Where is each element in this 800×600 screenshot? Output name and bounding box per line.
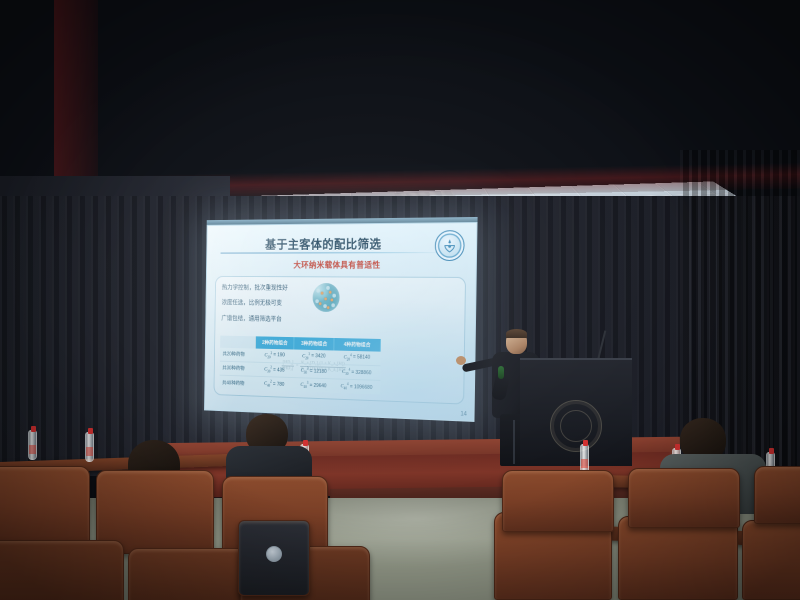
title-underline bbox=[221, 252, 446, 254]
slide-content-panel: 热力学控制，批次重现性好 浓度任选，比例无极可变 广谱包结，通用筛选平台 bbox=[214, 276, 467, 405]
table-body: 共20种药物 C202 = 190 C203 = 3420 C204 = 581… bbox=[220, 347, 381, 394]
table-header-blank bbox=[220, 336, 255, 349]
water-bottle bbox=[85, 432, 94, 462]
table-cell: C303 = 12180 bbox=[294, 363, 334, 379]
university-emblem-icon bbox=[435, 230, 465, 261]
slide: 基于主客体的配比筛选 大环纳米载体具有普适性 热力学控制，批次重现性好 bbox=[205, 223, 477, 421]
lectern-emblem-icon bbox=[550, 400, 602, 452]
presenter-hair bbox=[506, 329, 527, 338]
slide-subtitle: 大环纳米载体具有普适性 bbox=[212, 259, 470, 271]
water-bottle bbox=[28, 430, 37, 460]
screen-surface: 基于主客体的配比筛选 大环纳米载体具有普适性 热力学控制，批次重现性好 bbox=[204, 222, 477, 422]
table-cell: C304 = 328860 bbox=[333, 364, 380, 380]
slide-title: 基于主客体的配比筛选 bbox=[227, 233, 422, 252]
seat bbox=[754, 466, 800, 524]
row-label: 共40种药物 bbox=[220, 375, 255, 390]
table-cell: C204 = 58140 bbox=[334, 350, 381, 365]
table-cell: C203 = 3420 bbox=[294, 349, 334, 364]
table-header-cell: 3种药物组合 bbox=[294, 337, 334, 350]
projection-screen: 基于主客体的配比筛选 大环纳米载体具有普适性 热力学控制，批次重现性好 bbox=[204, 222, 477, 422]
seat bbox=[502, 470, 614, 532]
lecture-hall-photo: 基于主客体的配比筛选 大环纳米载体具有普适性 热力学控制，批次重现性好 bbox=[0, 0, 800, 600]
handheld-microphone-icon bbox=[498, 366, 504, 379]
table-cell: C403 = 29640 bbox=[294, 378, 334, 393]
slide-page-number: 14 bbox=[460, 411, 467, 417]
seat bbox=[0, 466, 90, 550]
bullet-item: 浓度任选，比例无极可变 bbox=[222, 301, 319, 308]
table-cell: C302 = 435 bbox=[255, 362, 294, 378]
table-cell: C402 = 780 bbox=[255, 376, 294, 391]
table-cell: C404 = 1096680 bbox=[333, 379, 380, 395]
row-label: 共30种药物 bbox=[220, 361, 255, 376]
presenter-hand bbox=[456, 356, 466, 365]
lectern bbox=[520, 358, 632, 466]
bullet-item: 热力学控制，批次重现性好 bbox=[222, 285, 319, 292]
bullet-item: 广谱包结，通用筛选平台 bbox=[221, 316, 318, 324]
seat bbox=[742, 520, 800, 600]
row-label: 共20种药物 bbox=[220, 347, 255, 362]
table-header-cell: 2种药物组合 bbox=[255, 336, 294, 349]
bullet-list: 热力学控制，批次重现性好 浓度任选，比例无极可变 广谱包结，通用筛选平台 bbox=[221, 285, 319, 333]
table-cell: C202 = 190 bbox=[255, 348, 294, 363]
combination-count-table: 2种药物组合 3种药物组合 4种药物组合 共20种药物 C202 = 190 C… bbox=[220, 336, 381, 395]
seat bbox=[0, 540, 124, 600]
seat-speaker-grille-icon bbox=[266, 546, 282, 562]
slide-header: 基于主客体的配比筛选 bbox=[212, 230, 470, 256]
nanocarrier-illustration bbox=[312, 283, 339, 312]
table-header-cell: 4种药物组合 bbox=[334, 338, 381, 351]
seat bbox=[618, 516, 738, 600]
seat bbox=[628, 468, 740, 528]
